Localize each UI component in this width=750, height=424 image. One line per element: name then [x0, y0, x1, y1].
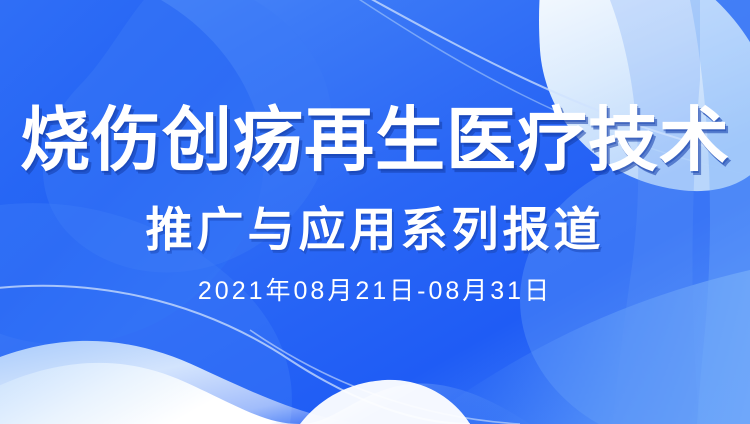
banner-main-title: 烧伤创疡再生医疗技术: [0, 100, 750, 180]
banner-text-layer: 烧伤创疡再生医疗技术 推广与应用系列报道 2021年08月21日-08月31日: [0, 0, 750, 424]
promo-banner: 烧伤创疡再生医疗技术 推广与应用系列报道 2021年08月21日-08月31日: [0, 0, 750, 424]
banner-sub-title: 推广与应用系列报道: [0, 203, 750, 257]
banner-date-range: 2021年08月21日-08月31日: [0, 276, 750, 306]
